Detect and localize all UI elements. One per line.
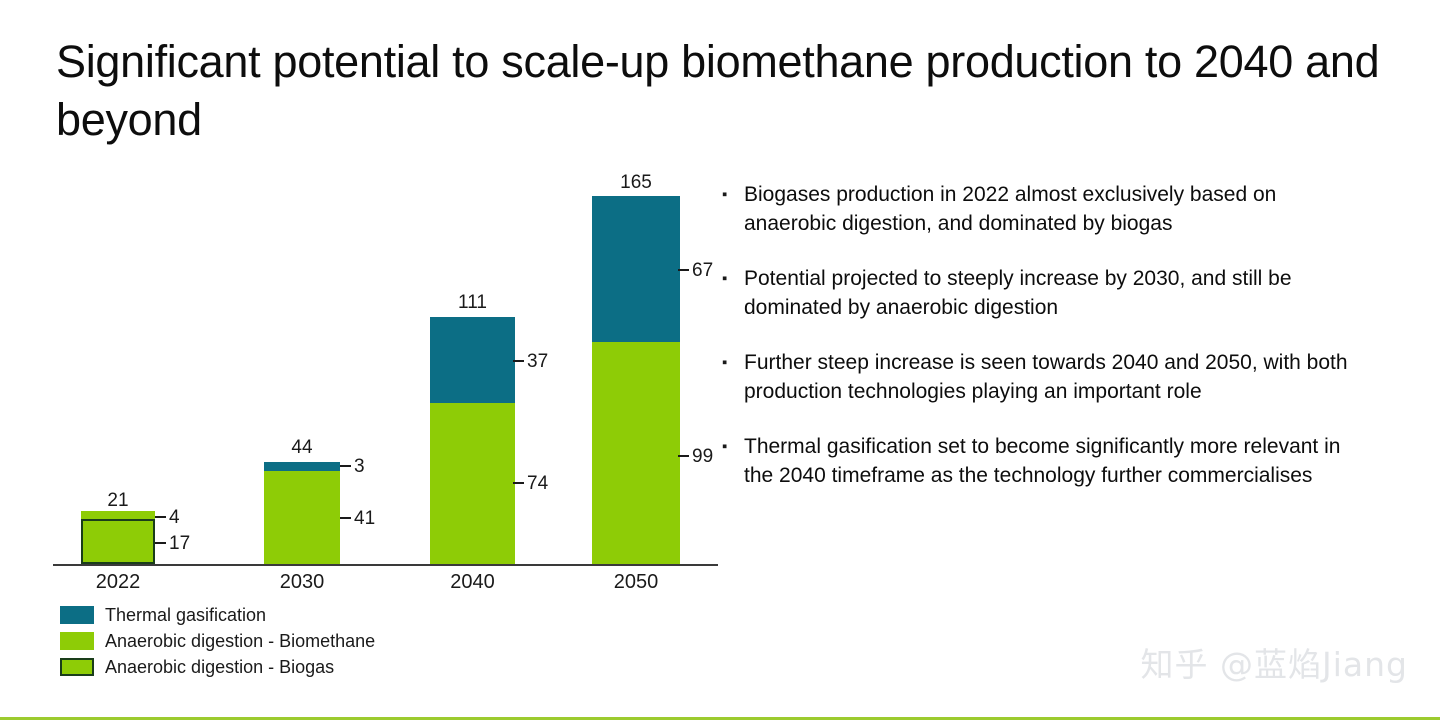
bar-total-label-2050: 165 — [592, 173, 680, 192]
bar-segment-label-biomethane-2040: 74 — [513, 474, 548, 493]
leader-dash-icon — [340, 465, 351, 467]
bar-total-label-2040: 111 — [430, 293, 515, 312]
legend-item-anaerobic-biogas[interactable]: Anaerobic digestion - Biogas — [60, 654, 490, 680]
bar-total-label-2022: 21 — [81, 491, 155, 510]
bullet-text: Further steep increase is seen towards 2… — [744, 348, 1362, 406]
bar-segment-label-biomethane-2022: 4 — [155, 508, 180, 527]
bar-segment-thermal-2050[interactable] — [592, 196, 680, 342]
bullet-item: ▪ Potential projected to steeply increas… — [722, 264, 1362, 322]
x-axis-line — [53, 564, 718, 566]
bullet-list: ▪ Biogases production in 2022 almost exc… — [722, 180, 1362, 516]
bullet-item: ▪ Further steep increase is seen towards… — [722, 348, 1362, 406]
bar-total-label-2030: 44 — [264, 438, 340, 457]
bar-segment-biomethane-2040[interactable] — [430, 403, 515, 564]
bar-segment-thermal-2040[interactable] — [430, 317, 515, 403]
bullet-item: ▪ Thermal gasification set to become sig… — [722, 432, 1362, 490]
legend-label-biomethane: Anaerobic digestion - Biomethane — [105, 630, 375, 652]
x-axis-tick-2022: 2022 — [81, 570, 155, 594]
bar-segment-label-biogas-2022: 17 — [155, 534, 190, 553]
x-axis-tick-2030: 2030 — [264, 570, 340, 594]
legend-swatch-icon-biomethane — [60, 632, 94, 650]
bar-group-2022[interactable] — [81, 0, 155, 564]
leader-dash-icon — [155, 542, 166, 544]
legend-label-biogas: Anaerobic digestion - Biogas — [105, 656, 334, 678]
bar-segment-label-thermal-2030: 3 — [340, 457, 365, 476]
legend-swatch-icon-thermal — [60, 606, 94, 624]
bullet-square-icon: ▪ — [722, 180, 744, 238]
leader-dash-icon — [155, 516, 166, 518]
legend-swatch-icon-biogas — [60, 658, 94, 676]
bullet-text: Thermal gasification set to become signi… — [744, 432, 1362, 490]
bar-segment-biogas-2022[interactable] — [81, 519, 155, 564]
chart-legend: Thermal gasification Anaerobic digestion… — [60, 602, 490, 680]
bar-segment-label-biomethane-2030: 41 — [340, 509, 375, 528]
bullet-item: ▪ Biogases production in 2022 almost exc… — [722, 180, 1362, 238]
bar-segment-biomethane-2050[interactable] — [592, 342, 680, 564]
leader-dash-icon — [513, 482, 524, 484]
bar-segment-biomethane-2022[interactable] — [81, 511, 155, 519]
bar-group-2050[interactable] — [592, 0, 680, 564]
bullet-square-icon: ▪ — [722, 264, 744, 322]
leader-dash-icon — [678, 455, 689, 457]
bottom-accent-rule — [0, 717, 1440, 720]
bullet-text: Potential projected to steeply increase … — [744, 264, 1362, 322]
bar-group-2030[interactable] — [264, 0, 340, 564]
slide-canvas: Significant potential to scale-up biomet… — [0, 0, 1440, 726]
bar-segment-biomethane-2030[interactable] — [264, 471, 340, 564]
legend-item-thermal-gasification[interactable]: Thermal gasification — [60, 602, 490, 628]
bullet-text: Biogases production in 2022 almost exclu… — [744, 180, 1362, 238]
bullet-square-icon: ▪ — [722, 348, 744, 406]
x-axis-tick-2050: 2050 — [592, 570, 680, 594]
leader-dash-icon — [513, 360, 524, 362]
leader-dash-icon — [678, 269, 689, 271]
x-axis-tick-2040: 2040 — [430, 570, 515, 594]
bar-segment-label-biomethane-2050: 99 — [678, 447, 713, 466]
bar-group-2040[interactable] — [430, 0, 515, 564]
bar-segment-thermal-2030[interactable] — [264, 462, 340, 471]
stacked-bar-chart: 21 4 17 2022 44 3 41 2030 111 37 74 2040… — [0, 0, 730, 600]
bar-segment-label-thermal-2050: 67 — [678, 261, 713, 280]
legend-item-anaerobic-biomethane[interactable]: Anaerobic digestion - Biomethane — [60, 628, 490, 654]
leader-dash-icon — [340, 517, 351, 519]
legend-label-thermal: Thermal gasification — [105, 604, 266, 626]
bullet-square-icon: ▪ — [722, 432, 744, 490]
watermark: 知乎 @蓝焰Jiang — [1141, 646, 1408, 684]
bar-segment-label-thermal-2040: 37 — [513, 352, 548, 371]
